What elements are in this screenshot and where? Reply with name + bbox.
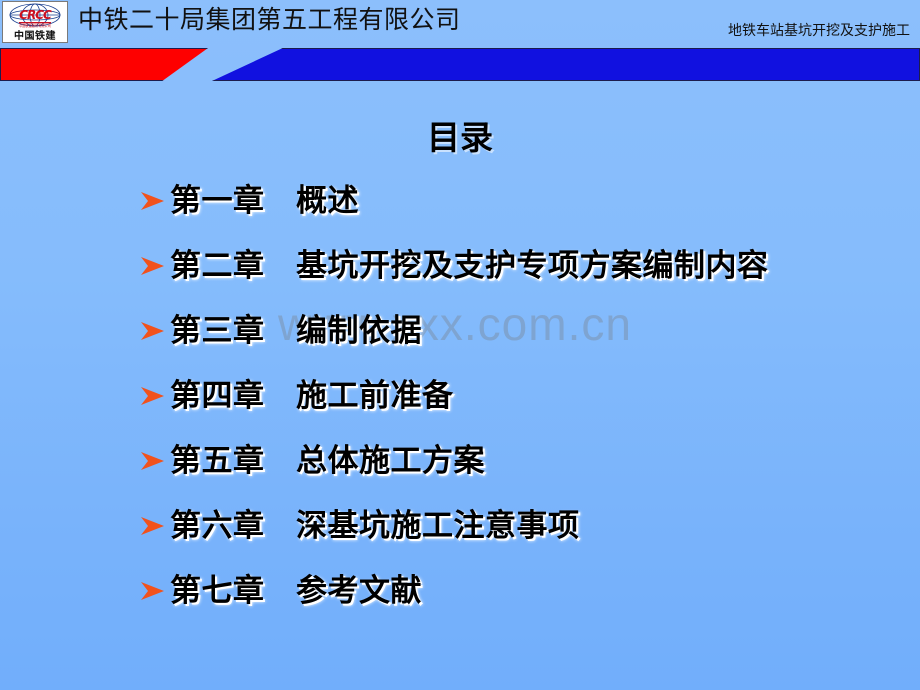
toc-item-4[interactable]: 第四章 施工前准备 — [138, 363, 918, 428]
toc-item-label: 第四章 施工前准备 — [170, 376, 454, 416]
toc-item-label: 第三章 编制依据 — [170, 311, 422, 351]
arrow-bullet-icon — [138, 251, 168, 281]
svg-text:中国铁建股份有限公司: 中国铁建股份有限公司 — [19, 23, 51, 28]
toc-item-label: 第二章 基坑开挖及支护专项方案编制内容 — [170, 246, 769, 286]
toc-item-5[interactable]: 第五章 总体施工方案 — [138, 428, 918, 493]
arrow-bullet-icon — [138, 511, 168, 541]
presentation-slide: CRCC 中国铁建股份有限公司 中国铁建 中铁二十局集团第五工程有限公司 地铁车… — [0, 0, 920, 690]
blue-banner-shape — [212, 48, 920, 81]
svg-text:CRCC: CRCC — [19, 8, 52, 22]
page-title: 目录 — [0, 117, 920, 159]
toc-item-6[interactable]: 第六章 深基坑施工注意事项 — [138, 493, 918, 558]
slide-header: CRCC 中国铁建股份有限公司 中国铁建 中铁二十局集团第五工程有限公司 地铁车… — [0, 0, 920, 44]
crcc-logo: CRCC 中国铁建股份有限公司 中国铁建 — [2, 1, 68, 43]
arrow-bullet-icon — [138, 186, 168, 216]
toc-item-2[interactable]: 第二章 基坑开挖及支护专项方案编制内容 — [138, 233, 918, 298]
arrow-bullet-icon — [138, 446, 168, 476]
toc-item-3[interactable]: 第三章 编制依据 — [138, 298, 918, 363]
red-banner-shape — [0, 48, 208, 81]
toc-item-label: 第六章 深基坑施工注意事项 — [170, 506, 580, 546]
decor-bars — [0, 48, 920, 81]
arrow-bullet-icon — [138, 381, 168, 411]
toc-item-1[interactable]: 第一章 概述 — [138, 168, 918, 233]
toc-item-label: 第七章 参考文献 — [170, 571, 422, 611]
toc-item-7[interactable]: 第七章 参考文献 — [138, 558, 918, 623]
toc-item-label: 第一章 概述 — [170, 181, 359, 221]
crcc-globe-logo: CRCC 中国铁建股份有限公司 中国铁建 — [3, 2, 67, 42]
company-name: 中铁二十局集团第五工程有限公司 — [78, 2, 461, 38]
arrow-bullet-icon — [138, 316, 168, 346]
svg-text:中国铁建: 中国铁建 — [14, 29, 56, 42]
header-caption: 地铁车站基坑开挖及支护施工 — [728, 22, 910, 40]
table-of-contents: 第一章 概述 第二章 基坑开挖及支护专项方案编制内容 第三章 编制依据 第四章 … — [138, 168, 918, 623]
arrow-bullet-icon — [138, 576, 168, 606]
toc-item-label: 第五章 总体施工方案 — [170, 441, 485, 481]
